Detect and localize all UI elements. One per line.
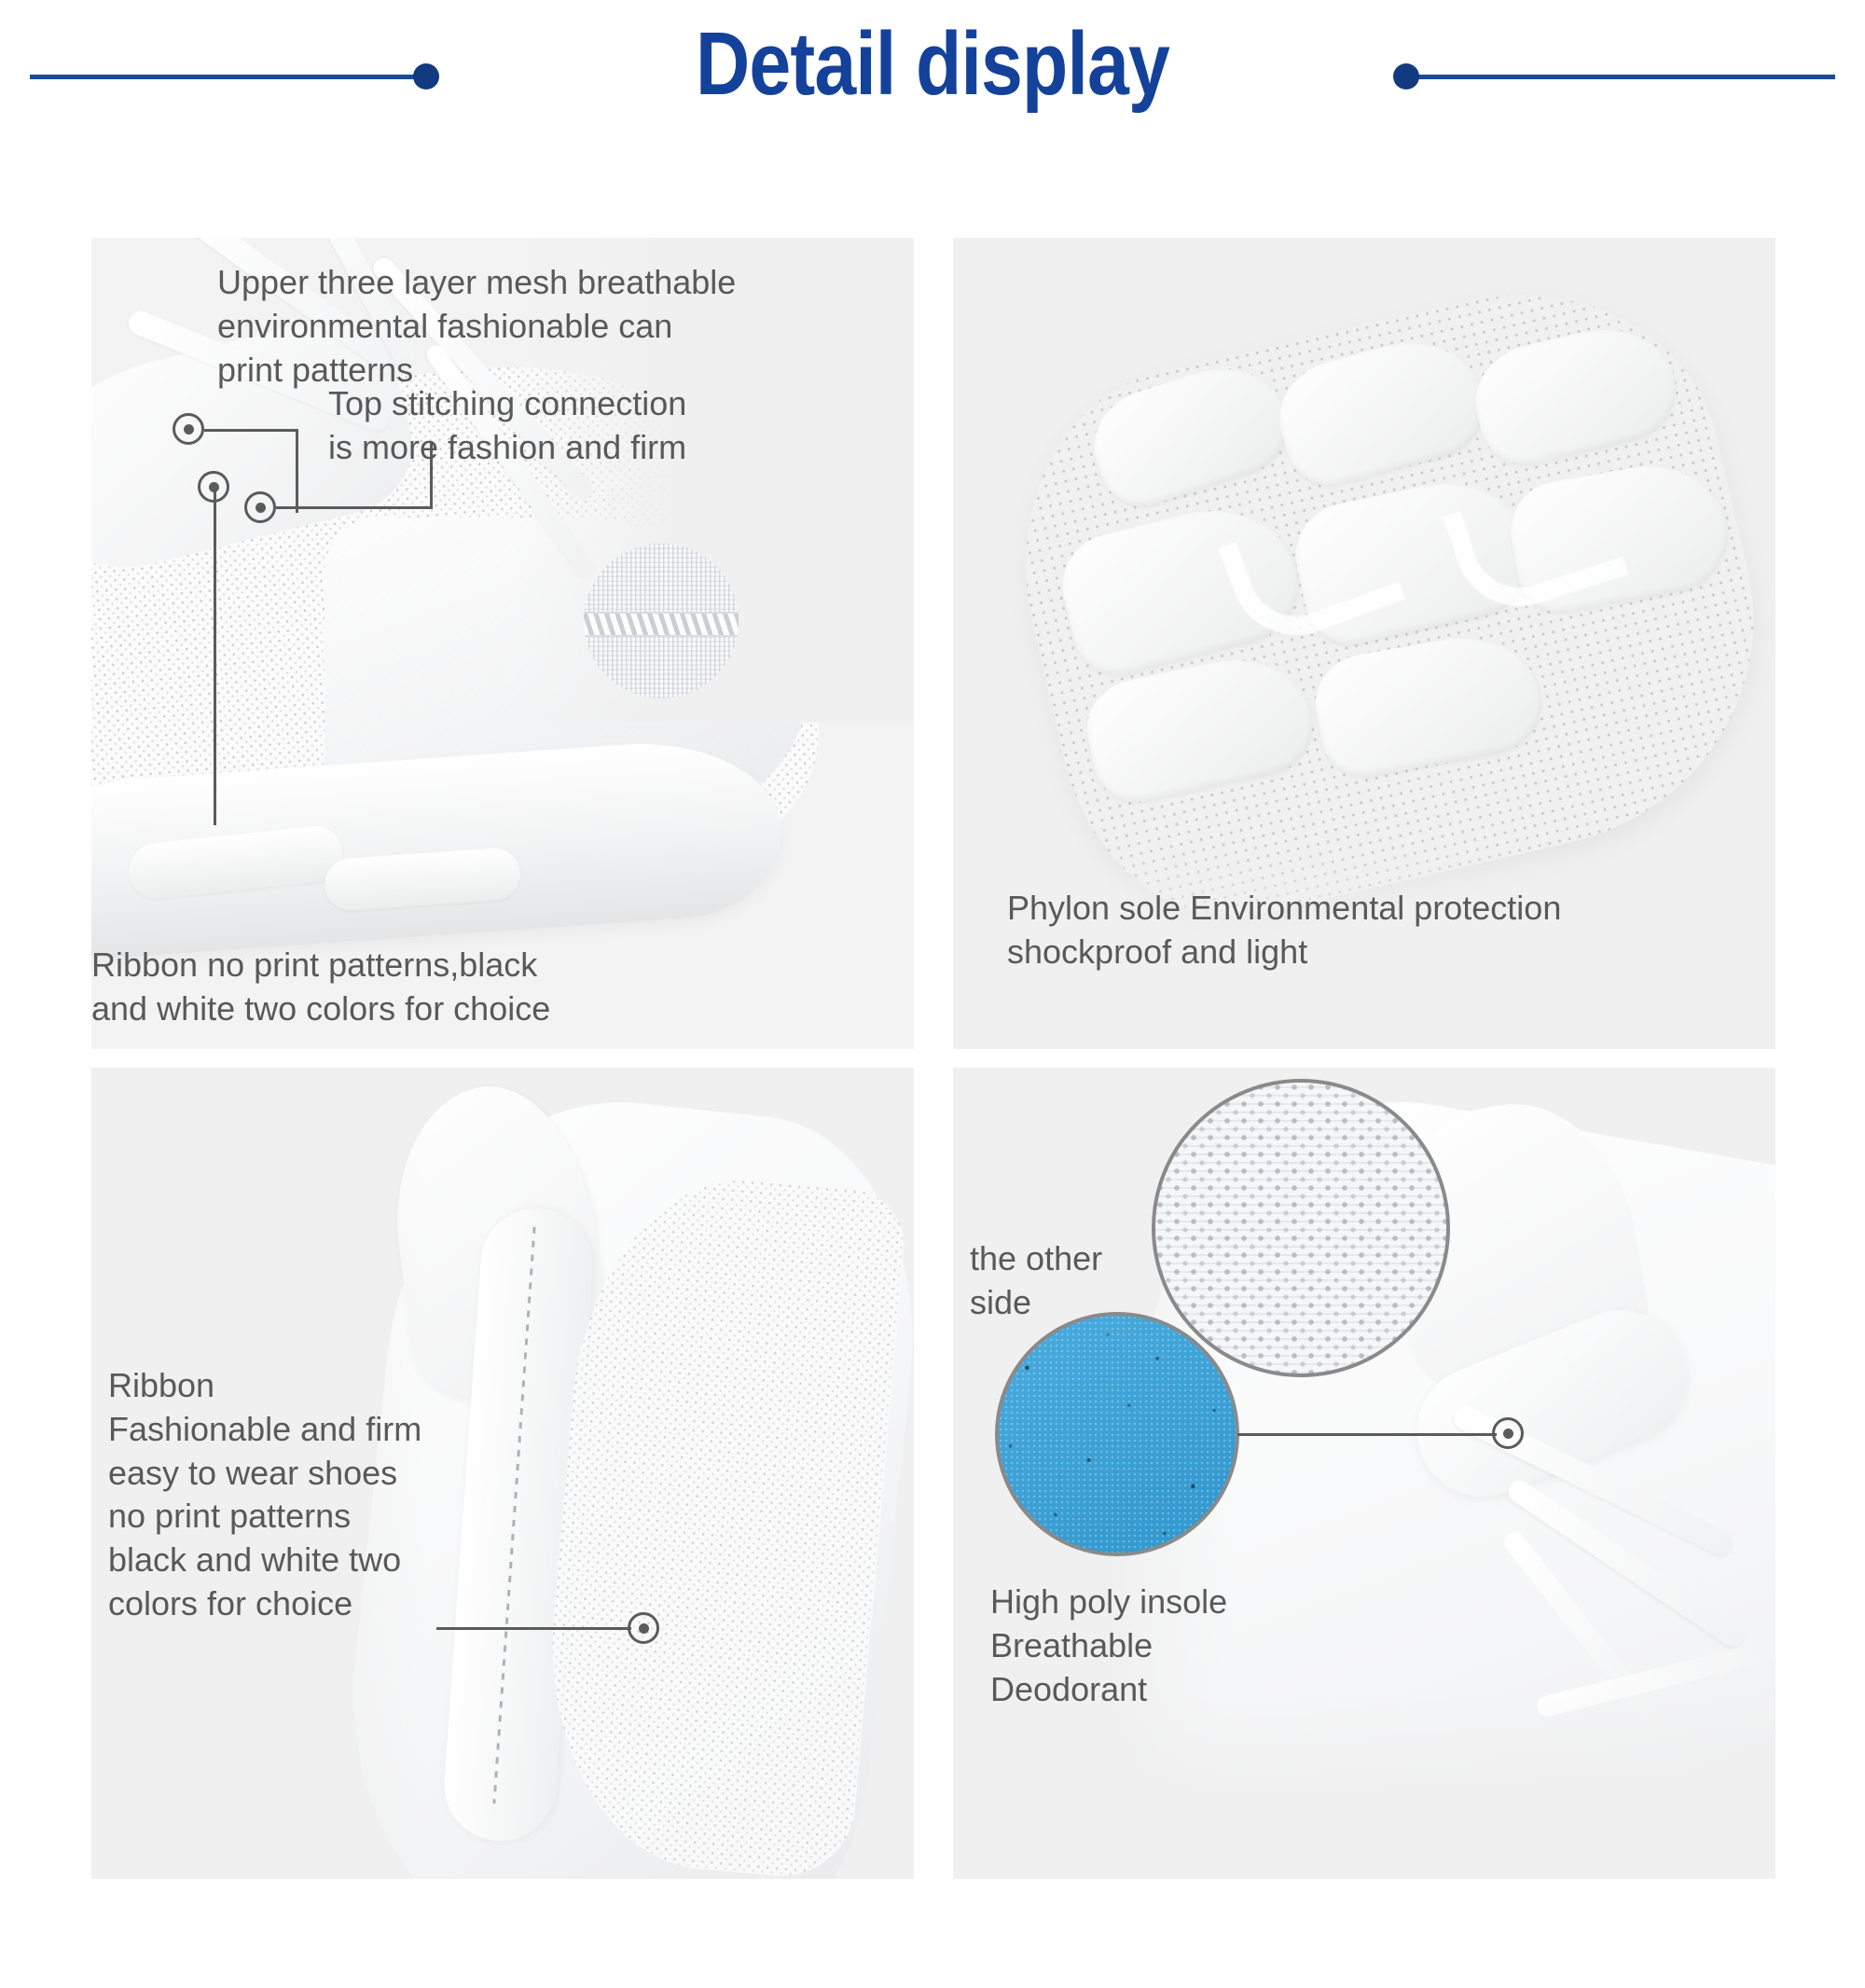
callout-marker-stitching[interactable] — [244, 491, 276, 523]
caption-other-side: the other side — [970, 1237, 1250, 1325]
stitch-row — [584, 612, 739, 637]
callout-marker-ribbon[interactable] — [198, 471, 229, 503]
lead-heel-ribbon — [436, 1627, 631, 1630]
lead-stitch-h — [276, 506, 433, 509]
insole-blue-macro-circle — [995, 1312, 1239, 1556]
callout-marker-heel-ribbon[interactable] — [628, 1612, 659, 1644]
panel-phylon-sole: Phylon sole Environmental protection sho… — [953, 238, 1775, 1049]
caption-phylon-sole: Phylon sole Environmental protection sho… — [1007, 887, 1753, 974]
panel-heel-ribbon: Ribbon Fashionable and firm easy to wear… — [91, 1068, 914, 1879]
detail-display-page: Detail display — [0, 0, 1865, 1988]
page-title: Detail display — [149, 13, 1716, 116]
callout-marker-insole[interactable] — [1492, 1417, 1524, 1449]
lead-mesh-v — [296, 429, 298, 513]
photo-fade-overlay-bottom — [953, 1692, 1775, 1879]
panel-insole: the other side High poly insole Breathab… — [953, 1068, 1775, 1879]
caption-upper-mesh: Upper three layer mesh breathable enviro… — [217, 261, 833, 392]
page-header: Detail display — [0, 0, 1865, 157]
caption-ribbon-colors: Ribbon no print patterns,black and white… — [91, 944, 744, 1031]
caption-high-poly-insole: High poly insole Breathable Deodorant — [990, 1581, 1382, 1711]
callout-marker-upper-mesh[interactable] — [173, 413, 204, 445]
lead-insole — [1237, 1433, 1497, 1436]
mesh-macro-circle — [1152, 1079, 1450, 1377]
caption-heel-ribbon: Ribbon Fashionable and firm easy to wear… — [108, 1364, 518, 1626]
lead-ribbon-v — [214, 486, 216, 825]
detail-panel-grid: Upper three layer mesh breathable enviro… — [91, 238, 1775, 1879]
caption-top-stitching: Top stitching connection is more fashion… — [328, 382, 850, 470]
lead-mesh-h — [204, 429, 298, 432]
stitching-macro-circle — [584, 544, 739, 698]
panel-upper-mesh: Upper three layer mesh breathable enviro… — [91, 238, 914, 1049]
